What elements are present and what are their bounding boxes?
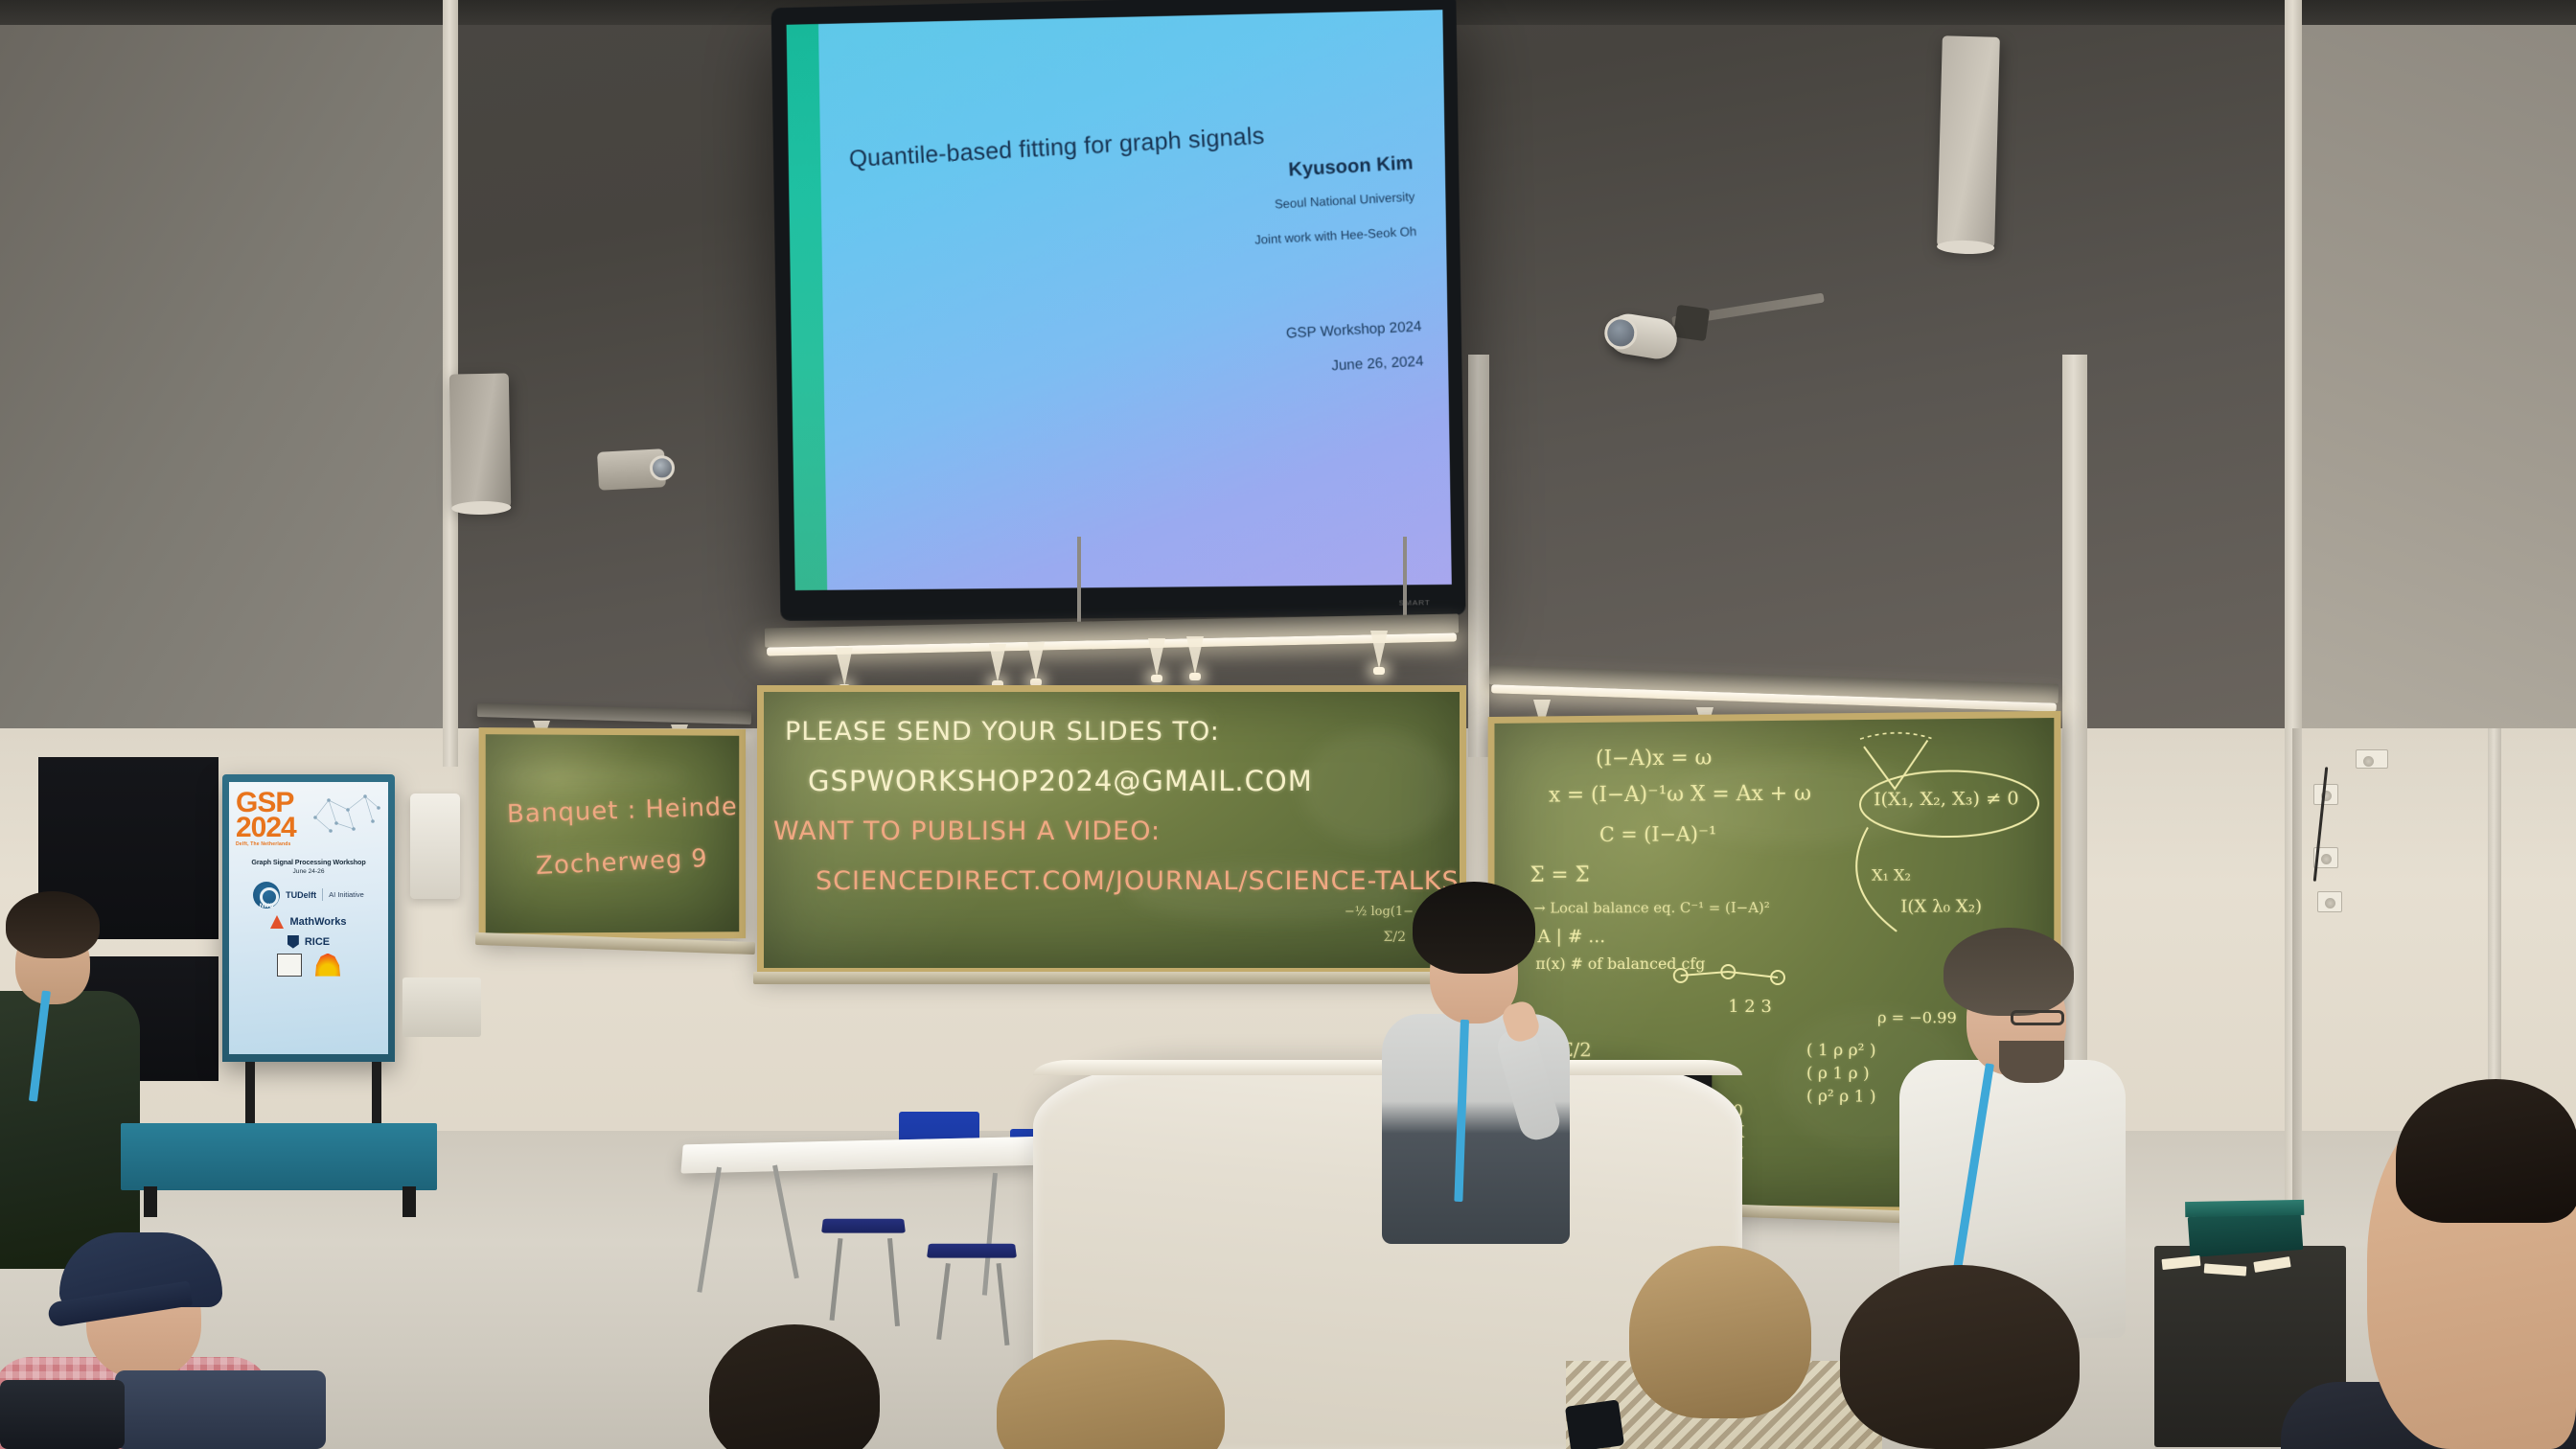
board-lamp-bulb-5 (1189, 673, 1201, 680)
network-graphic-icon (310, 789, 384, 837)
slide-joint-work: Joint work with Hee-Seok Oh (1254, 224, 1417, 247)
wall-ledge (402, 977, 481, 1037)
slide-screen: Quantile-based fitting for graph signals… (787, 10, 1452, 590)
person-hair (6, 891, 100, 958)
slide-affiliation: Seoul National University (1275, 189, 1415, 211)
sponsor-row-4 (236, 954, 381, 977)
foreground-chair-2[interactable] (0, 1380, 125, 1449)
chalkboard-center-scribble-2: Σ/2 (1383, 930, 1406, 945)
nwo-logo-icon: NWO (253, 882, 280, 908)
chalk-box[interactable] (2188, 1209, 2304, 1257)
sponsor-row-1: NWO TUDelft AI Initiative (236, 882, 381, 908)
board-lamp-cone-3 (1027, 642, 1045, 680)
slide-author: Kyusoon Kim (1288, 152, 1414, 181)
board-lamp-bulb-6 (1373, 667, 1385, 675)
partition-leg (144, 1186, 157, 1217)
board-lamp-cone-1 (836, 648, 854, 686)
wall-outlet-3[interactable] (2317, 891, 2342, 912)
mathworks-logo-label: MathWorks (289, 916, 346, 928)
ai-initiative-label: AI Initiative (329, 890, 364, 899)
attendee-hair (1943, 928, 2074, 1016)
camera-bracket (1673, 305, 1710, 341)
shell-logo-icon (315, 954, 340, 977)
rice-logo-label: RICE (305, 936, 330, 948)
equation-8: I(X λ₀ X₂) (1900, 896, 1982, 916)
wall-pillar-mid (1468, 355, 1489, 757)
equation-10: ( 1 ρ ρ² ) (1806, 1041, 1876, 1060)
chalkboard-center-line-1: GSPWORKSHOP2024@GMAIL.COM (808, 765, 1313, 797)
wall-junction-box (2356, 749, 2388, 769)
upper-wall-left (0, 0, 450, 767)
mathworks-logo-icon (270, 915, 284, 929)
poster-subtitle: Graph Signal Processing Workshop (236, 858, 381, 866)
partition-leg (402, 1186, 416, 1217)
equation-13: ρ = −0.99 (1877, 1008, 1957, 1026)
slide-content: Quantile-based fitting for graph signals… (809, 10, 1452, 590)
glasses-icon (2011, 1010, 2064, 1025)
board-lamp-cone-5 (1186, 636, 1204, 675)
equation-4: → Local balance eq. C⁻¹ = (I−A)² (1533, 899, 1769, 916)
slide-date: June 26, 2024 (1331, 353, 1424, 374)
chalkboard-center: PLEASE SEND YOUR SLIDES TO: GSPWORKSHOP2… (757, 685, 1466, 975)
wall-dispenser[interactable] (410, 793, 460, 899)
chalk-box-lid (2185, 1200, 2304, 1217)
chalkboard-left-line-0: Banquet : Heinde (506, 793, 738, 829)
foreground-chair-1[interactable] (115, 1370, 326, 1449)
foreground-head-3 (1629, 1246, 1811, 1418)
chalkboard-center-scribble-1: −½ log(1− (1345, 905, 1414, 919)
ellipse-highlight-icon (1856, 770, 2059, 878)
graph-sketch-icon (1671, 937, 1843, 1014)
nwo-logo-label: NWO (253, 904, 280, 909)
equation-5: A | # ... (1537, 926, 1605, 947)
board-lamp-cone-4 (1148, 638, 1165, 677)
mobile-phone[interactable] (1565, 1399, 1624, 1449)
equation-2: C = (I−A)⁻¹ (1599, 822, 1716, 846)
equation-3: Σ = Σ̄ (1530, 863, 1590, 887)
person-torso (0, 991, 140, 1269)
lamp-drop-rod-1 (1077, 537, 1081, 629)
rice-crest-icon (287, 935, 299, 949)
conference-poster: GSP 2024 Delft, The Netherlands Graph Si… (229, 782, 388, 1054)
presentation-display[interactable]: Quantile-based fitting for graph signals… (771, 0, 1466, 621)
board-lamp-cone-6 (1370, 631, 1388, 669)
chalkboard-center-line-2: WANT TO PUBLISH A VIDEO: (773, 816, 1161, 846)
chair-seat (821, 1219, 906, 1233)
chalkboard-center-line-0: PLEASE SEND YOUR SLIDES TO: (785, 717, 1220, 747)
presenter-hair (1413, 882, 1535, 974)
poster-location: Delft, The Netherlands (236, 841, 381, 847)
poster-dates: June 24-26 (236, 868, 381, 875)
upper-wall-right (2290, 0, 2576, 767)
chalkboard-left: Banquet : Heinde Zocherweg 9 (479, 727, 746, 940)
equation-12: ( ρ² ρ 1 ) (1806, 1087, 1876, 1106)
chalkboard-left-line-1: Zocherweg 9 (535, 844, 708, 881)
chalkboard-center-line-3: SCIENCEDIRECT.COM/JOURNAL/SCIENCE-TALKS (816, 866, 1460, 896)
teal-partition (121, 1123, 437, 1190)
board-lamp-bulb-4 (1151, 675, 1162, 682)
wall-speaker-right (1937, 35, 2000, 247)
projector-left (597, 448, 666, 491)
sponsor-row-3: RICE (236, 935, 381, 949)
sponsor-row-2: MathWorks (236, 915, 381, 929)
lecture-hall-scene: Quantile-based fitting for graph signals… (0, 0, 2576, 1449)
logo-divider (322, 888, 323, 901)
foreground-head-4 (1840, 1265, 2080, 1449)
chalk-tray-center (753, 972, 1474, 984)
equation-1: x = (I−A)⁻¹ω X = Ax + ω (1549, 782, 1811, 808)
tudelft-logo-label: TUDelft (286, 890, 316, 900)
slide-venue: GSP Workshop 2024 (1285, 318, 1421, 341)
board-lamp-cone-2 (989, 644, 1006, 682)
qr-code-icon[interactable] (277, 954, 302, 977)
chair-seat (927, 1244, 1017, 1258)
attendee-beard (1999, 1041, 2064, 1083)
wall-speaker-left (449, 373, 511, 508)
conference-poster-stand[interactable]: GSP 2024 Delft, The Netherlands Graph Si… (222, 774, 395, 1062)
equation-0: (I−A)x = ω (1596, 747, 1712, 771)
equation-11: ( ρ 1 ρ ) (1806, 1064, 1870, 1083)
